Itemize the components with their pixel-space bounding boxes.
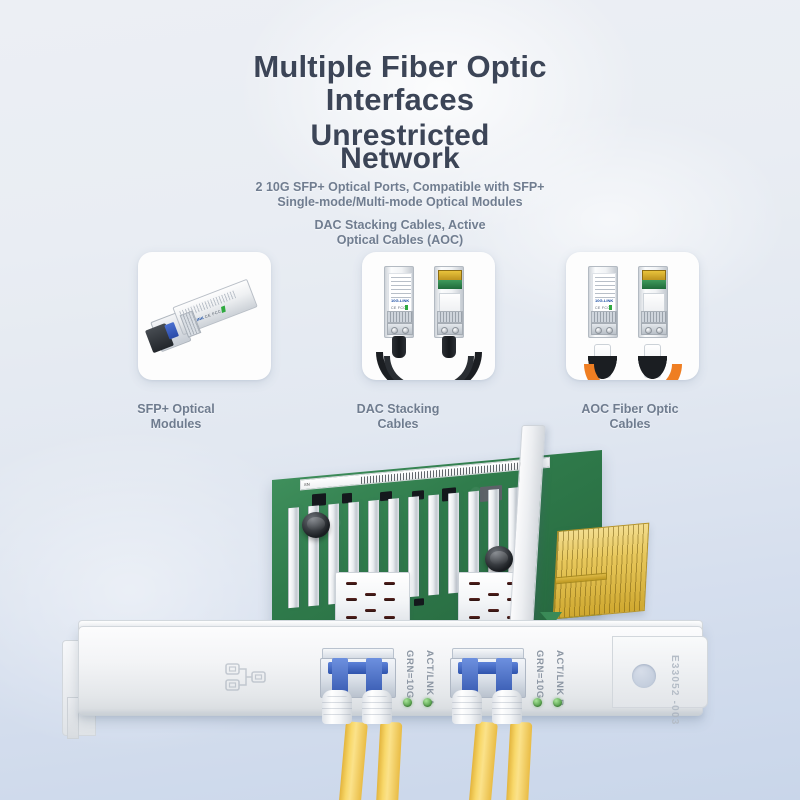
bracket-right-tab — [612, 636, 708, 708]
fiber-cable — [376, 721, 403, 800]
pcb-capacitor — [485, 546, 513, 572]
port-a-speed-label: GRN=10G — [404, 650, 415, 699]
port-b-speed-label: GRN=10G — [534, 650, 545, 699]
lc-duplex-connector-b — [448, 648, 528, 710]
pcb-capacitor — [302, 512, 330, 538]
nic-serial-sticker: SN — [300, 457, 550, 491]
heatsink-fin — [428, 494, 439, 595]
fiber-cable — [468, 721, 498, 800]
sfp-cage-a — [335, 572, 410, 627]
port-a-speed-led — [403, 698, 412, 707]
lc-b-boot-left — [452, 690, 482, 724]
port-b-speed-led — [533, 698, 542, 707]
network-lan-icon — [224, 661, 272, 695]
port-b-activity-led — [553, 698, 562, 707]
heatsink-fin — [288, 507, 299, 608]
lc-a-boot-right — [362, 690, 392, 724]
lc-a-boot-left — [322, 690, 352, 724]
pcb-component — [414, 598, 424, 606]
fiber-cable — [338, 721, 368, 800]
pcie-edge-connector — [553, 523, 650, 620]
fiber-cable — [506, 721, 533, 800]
nic-serial-text: SN — [304, 482, 310, 488]
lc-duplex-connector-a — [318, 648, 398, 710]
port-a-activity-led — [423, 698, 432, 707]
lc-b-boot-right — [492, 690, 522, 724]
network-card-illustration: SN — [0, 0, 800, 800]
bracket-screw-hole — [632, 664, 656, 688]
